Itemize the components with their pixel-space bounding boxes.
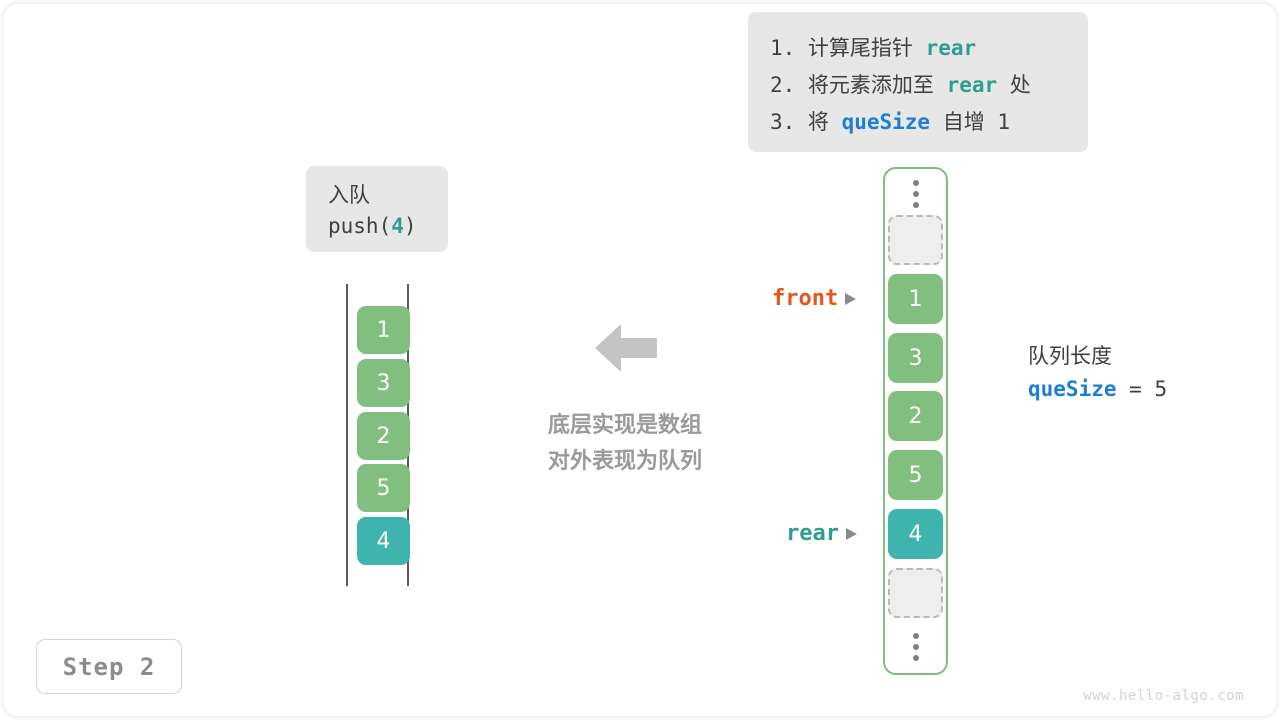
quesize-info: 队列长度 queSize = 5 bbox=[1028, 340, 1167, 406]
queue-cell: 2 bbox=[357, 412, 410, 460]
ellipsis-dot bbox=[913, 633, 919, 639]
queue-rail-left bbox=[346, 284, 348, 586]
queue-cell: 3 bbox=[357, 359, 410, 407]
step-line-2-code: rear bbox=[947, 73, 998, 97]
arrow-left-icon bbox=[595, 320, 657, 376]
watermark: www.hello-algo.com bbox=[1083, 688, 1244, 704]
push-code-value: 4 bbox=[391, 214, 404, 238]
step-line-3: 3. 将 queSize 自增 1 bbox=[770, 104, 1066, 141]
push-operation-box: 入队 push(4) bbox=[306, 166, 448, 252]
center-caption-line-1: 底层实现是数组 bbox=[500, 408, 750, 444]
array-cell: 5 bbox=[888, 450, 943, 500]
diagram-canvas: 1. 计算尾指针 rear 2. 将元素添加至 rear 处 3. 将 queS… bbox=[0, 0, 1280, 720]
queue-cell-new: 4 bbox=[357, 517, 410, 565]
center-caption: 底层实现是数组 对外表现为队列 bbox=[500, 408, 750, 480]
left-queue-column: 1 3 2 5 4 bbox=[346, 284, 410, 586]
step-line-2-suffix: 处 bbox=[997, 73, 1031, 97]
rear-pointer-label: rear bbox=[786, 521, 857, 546]
step-line-1-prefix: 1. 计算尾指针 bbox=[770, 36, 926, 60]
step-line-2: 2. 将元素添加至 rear 处 bbox=[770, 67, 1066, 104]
step-line-1-code: rear bbox=[926, 36, 977, 60]
array-ellipsis-top bbox=[888, 173, 943, 215]
array-cell-new: 4 bbox=[888, 509, 943, 559]
step-line-3-prefix: 3. 将 bbox=[770, 110, 842, 134]
array-cell: 2 bbox=[888, 391, 943, 441]
array-cell-empty bbox=[888, 215, 943, 265]
rear-pointer-text: rear bbox=[786, 521, 839, 546]
queue-cell: 5 bbox=[357, 464, 410, 512]
front-pointer-text: front bbox=[772, 286, 838, 311]
ellipsis-dot bbox=[913, 180, 919, 186]
array-cell: 3 bbox=[888, 333, 943, 383]
array-cell-empty bbox=[888, 568, 943, 618]
center-caption-line-2: 对外表现为队列 bbox=[500, 444, 750, 480]
push-code: push(4) bbox=[328, 210, 426, 242]
array-ellipsis-bottom bbox=[888, 626, 943, 668]
quesize-value: 5 bbox=[1154, 377, 1167, 401]
quesize-equals: = bbox=[1117, 377, 1155, 401]
step-line-2-prefix: 2. 将元素添加至 bbox=[770, 73, 947, 97]
quesize-expression: queSize = 5 bbox=[1028, 372, 1167, 406]
arrow-right-icon bbox=[846, 528, 857, 540]
step-line-3-code: queSize bbox=[842, 110, 931, 134]
ellipsis-dot bbox=[913, 655, 919, 661]
ellipsis-dot bbox=[913, 644, 919, 650]
push-title: 入队 bbox=[328, 180, 426, 210]
ellipsis-dot bbox=[913, 202, 919, 208]
quesize-caption: 队列长度 bbox=[1028, 340, 1167, 372]
push-code-suffix: ) bbox=[404, 214, 417, 238]
step-badge: Step 2 bbox=[36, 639, 182, 694]
step-line-1: 1. 计算尾指针 rear bbox=[770, 30, 1066, 67]
queue-cell: 1 bbox=[357, 306, 410, 354]
steps-panel: 1. 计算尾指针 rear 2. 将元素添加至 rear 处 3. 将 queS… bbox=[748, 12, 1088, 152]
push-code-prefix: push( bbox=[328, 214, 391, 238]
front-pointer-label: front bbox=[772, 286, 856, 311]
step-line-3-suffix: 自增 1 bbox=[930, 110, 1010, 134]
ellipsis-dot bbox=[913, 191, 919, 197]
array-cell: 1 bbox=[888, 274, 943, 324]
arrow-right-icon bbox=[845, 293, 856, 305]
quesize-var: queSize bbox=[1028, 377, 1117, 401]
